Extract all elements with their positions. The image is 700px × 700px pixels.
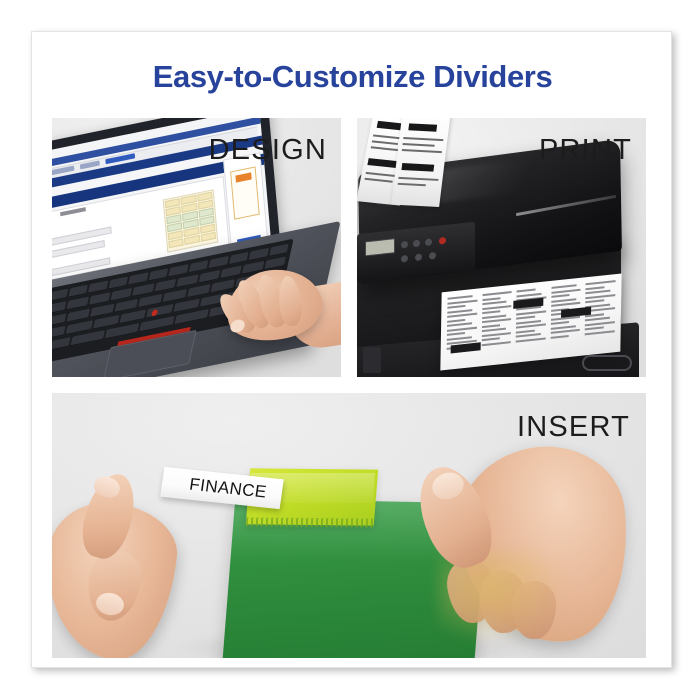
printer-button[interactable]	[415, 253, 422, 261]
panel-print: PRINT	[357, 118, 646, 377]
tray-handle	[582, 355, 632, 371]
white-card: Easy-to-Customize Dividers	[31, 31, 672, 668]
printer-button[interactable]	[413, 240, 420, 248]
printer-paper-feed	[359, 118, 471, 200]
printed-sheet-columns	[446, 280, 615, 364]
screen-label-grid	[163, 189, 219, 253]
hand-left-holding-label	[52, 455, 232, 658]
printer-button[interactable]	[429, 252, 436, 260]
hand-right-holding-divider	[418, 431, 628, 658]
screen-preview-card	[230, 166, 260, 219]
printer-side-vent	[363, 347, 381, 373]
screen-form	[52, 207, 122, 275]
screen-preview-tab	[235, 172, 251, 182]
feed-sheet	[391, 118, 451, 207]
printer-button[interactable]	[425, 238, 432, 246]
page-title: Easy-to-Customize Dividers	[32, 59, 673, 95]
panel-design: DESIGN	[52, 118, 341, 377]
hand-typing	[202, 254, 341, 376]
printer-button[interactable]	[401, 255, 408, 263]
panel-label-print: PRINT	[539, 134, 632, 167]
panel-label-design: DESIGN	[209, 134, 327, 167]
panel-label-insert: INSERT	[517, 411, 630, 444]
product-feature-image: Easy-to-Customize Dividers	[0, 0, 700, 700]
panel-insert: FINANCE INSERT	[52, 393, 646, 658]
printer-power-button[interactable]	[439, 237, 446, 245]
printer-lcd-display	[365, 238, 395, 256]
printer-button[interactable]	[401, 241, 408, 249]
